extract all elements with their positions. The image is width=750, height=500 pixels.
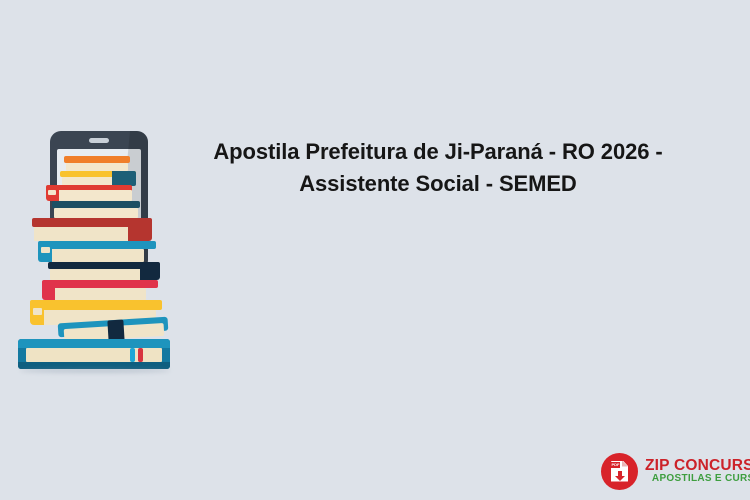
product-banner: Apostila Prefeitura de Ji-Paraná - RO 20… xyxy=(0,0,750,500)
book-pages xyxy=(56,190,132,201)
book-spine-detail xyxy=(41,247,50,253)
book-spine xyxy=(112,171,136,186)
pdf-label-badge: PDF xyxy=(611,462,620,468)
brand-logo[interactable]: PDF ZIP CONCURSOS APOSTILAS E CURSOS xyxy=(601,451,741,491)
brand-text-block: ZIP CONCURSOS APOSTILAS E CURSOS xyxy=(645,458,750,485)
book-cover-top xyxy=(18,339,170,348)
book-pages xyxy=(54,208,138,218)
product-illustration xyxy=(12,128,172,310)
book-spine-detail xyxy=(48,190,56,195)
download-arrow-head xyxy=(615,476,625,481)
drop-shadow xyxy=(20,368,170,373)
book-spine xyxy=(128,218,152,241)
book-stack-item xyxy=(64,156,130,163)
product-title: Apostila Prefeitura de Ji-Paraná - RO 20… xyxy=(185,136,691,200)
book-stack-item xyxy=(38,241,156,249)
book-pages xyxy=(66,163,128,171)
book-pages xyxy=(50,269,150,280)
bookmark-ribbon xyxy=(138,348,143,362)
product-title-line-2: Assistente Social - SEMED xyxy=(185,168,691,200)
book-spine xyxy=(140,262,160,280)
tablet-speaker-icon xyxy=(89,138,109,143)
brand-tagline: APOSTILAS E CURSOS xyxy=(645,474,750,485)
book-pages xyxy=(44,288,146,300)
brand-name: ZIP CONCURSOS xyxy=(645,458,750,474)
bookmark-ribbon xyxy=(130,348,135,362)
book-pages xyxy=(40,249,144,262)
book-stack-item xyxy=(42,280,158,288)
product-title-line-1: Apostila Prefeitura de Ji-Paraná - RO 20… xyxy=(185,136,691,168)
book-spine xyxy=(42,280,55,300)
book-spine-detail xyxy=(33,308,42,315)
book-pages xyxy=(34,227,142,241)
book-stack-item xyxy=(30,300,162,310)
book-stack-item xyxy=(52,201,140,208)
pdf-download-icon: PDF xyxy=(601,453,638,490)
